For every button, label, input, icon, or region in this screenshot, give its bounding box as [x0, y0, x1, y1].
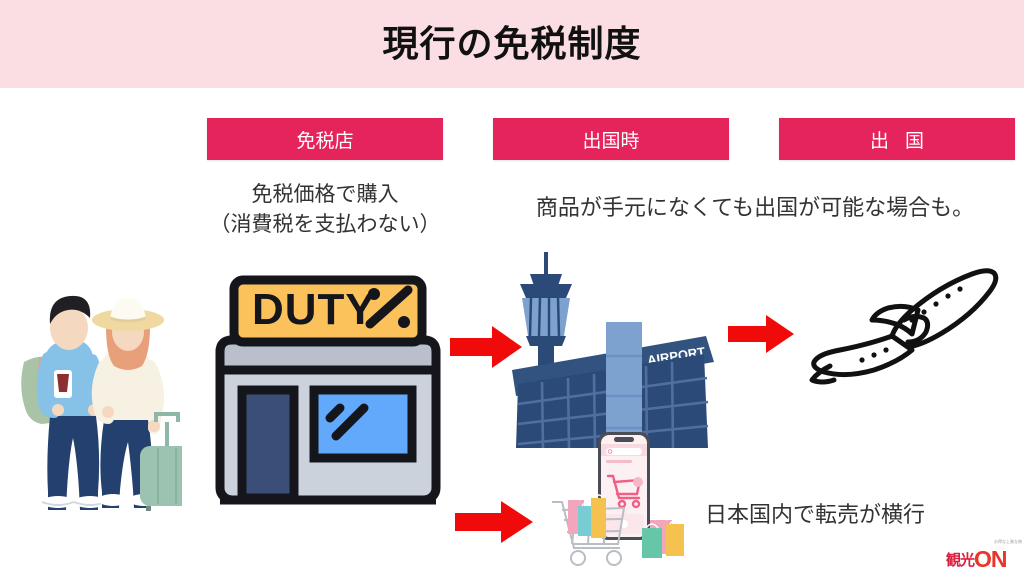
- stage-label-shop: 免税店: [296, 126, 353, 153]
- airport-terminal-illustration: AIRPORT: [500, 252, 722, 450]
- stage-header-duty-free-shop: 免税店: [207, 118, 443, 160]
- logo-tagline: お得な上質な旅: [994, 539, 1022, 545]
- logo-wordmark: 観光 ON: [946, 549, 1007, 570]
- page-title: 現行の免税制度: [382, 26, 641, 62]
- arrow-airport-to-plane: [728, 314, 794, 354]
- duty-free-shop-illustration: DUTY: [212, 272, 444, 510]
- slide-canvas: 現行の免税制度 免税店 出国時 出国 免税価格で購入 （消費税を支払わない） 商…: [0, 0, 1024, 576]
- site-logo[interactable]: お得な上質な旅 観光 ON: [946, 538, 1024, 572]
- caption-shop-line1: 免税価格で購入: [190, 180, 460, 210]
- stage-header-exit-country: 出国: [779, 118, 1015, 160]
- stage-header-departure-time: 出国時: [493, 118, 729, 160]
- logo-mark: ON: [974, 549, 1007, 570]
- caption-duty-free-purchase: 免税価格で購入 （消費税を支払わない）: [190, 180, 460, 241]
- online-shopping-illustration: [546, 424, 706, 574]
- caption-domestic-resale: 日本国内で転売が横行: [705, 499, 985, 531]
- logo-kanji: 観光: [946, 549, 974, 570]
- travelers-couple-illustration: [12, 270, 182, 512]
- airplane-takeoff-illustration: [800, 258, 1010, 388]
- caption-shop-line2: （消費税を支払わない）: [190, 210, 460, 240]
- arrow-shop-to-resale: [455, 500, 533, 544]
- arrow-shop-to-airport: [450, 325, 522, 369]
- caption-departure-possible: 商品が手元になくても出国が可能な場合も。: [505, 192, 1005, 224]
- stage-label-depart: 出国時: [582, 126, 639, 153]
- stage-label-exit: 出国: [854, 126, 940, 153]
- shop-sign-text: DUTY: [252, 285, 376, 334]
- title-banner: 現行の免税制度: [0, 0, 1024, 88]
